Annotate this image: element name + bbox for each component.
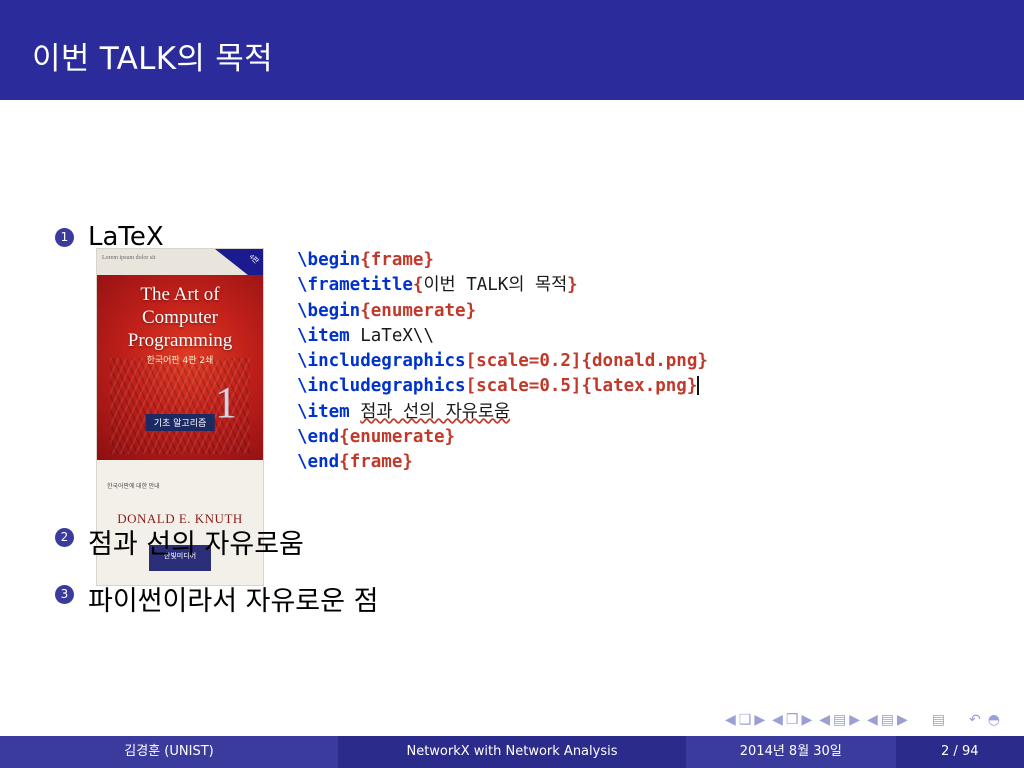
footer-date: 2014년 8월 30일 [686, 736, 896, 768]
code-token: \begin [297, 250, 360, 270]
footer-title: NetworkX with Network Analysis [338, 736, 686, 768]
text-cursor [697, 376, 699, 395]
nav-frame-next-icon[interactable]: ▶ [801, 712, 812, 728]
list-item: 3 파이썬이라서 자유로운 점 [55, 579, 378, 618]
code-token: [scale=0.2]{donald.png} [466, 351, 708, 371]
page-title: 이번 TALK의 목적 [32, 33, 273, 78]
code-token: { [413, 275, 424, 295]
book-badge: 기초 알고리즘 [146, 414, 215, 431]
code-token: 점과 선의 자유로움 [360, 402, 510, 422]
code-token: \frametitle [297, 275, 413, 295]
book-title-line3: Programming [97, 329, 263, 352]
footer-right-cell: 2014년 8월 30일 2 / 94 [686, 736, 1024, 768]
footer-date-cell: 2014년 8월 30일 [686, 736, 896, 768]
nav-subsection-icon[interactable]: ▤ [833, 712, 846, 728]
code-token: 이번 TALK의 목적 [423, 275, 567, 295]
code-token: LaTeX\\ [350, 326, 434, 346]
book-subtitle: 한국어판 4판 2쇄 [97, 353, 263, 366]
nav-group-slide[interactable]: ◀ ❑ ▶ [725, 712, 765, 728]
code-line: \item 점과 선의 자유로움 [297, 400, 708, 425]
code-token: \includegraphics [297, 376, 466, 396]
footer-page-number: 2 / 94 [896, 736, 1024, 768]
code-token: \begin [297, 301, 360, 321]
code-token: \item [297, 402, 350, 422]
nav-group-section[interactable]: ◀ ▤ ▶ [867, 712, 908, 728]
code-line: \includegraphics[scale=0.5]{latex.png} [297, 374, 708, 399]
code-token: \item [297, 326, 350, 346]
nav-section-next-icon[interactable]: ▶ [897, 712, 908, 728]
bullet-number: 1 [55, 228, 74, 247]
book-title-line1: The Art of [97, 283, 263, 306]
code-token: {enumerate} [339, 427, 455, 447]
nav-prev-icon[interactable]: ◀ [725, 712, 736, 728]
slide-body: 1 LaTeX Lorem ipsum dolor sit 4판 The Art… [0, 100, 1024, 730]
code-line: \begin{enumerate} [297, 299, 708, 324]
book-title-line2: Computer [97, 306, 263, 329]
code-token: \includegraphics [297, 351, 466, 371]
nav-section-prev-icon[interactable]: ◀ [867, 712, 878, 728]
code-line: \frametitle{이번 TALK의 목적} [297, 273, 708, 298]
slide-title-bar: 이번 TALK의 목적 [0, 0, 1024, 100]
code-token: [scale=0.5]{latex.png} [466, 376, 698, 396]
nav-next-icon[interactable]: ▶ [754, 712, 765, 728]
nav-subsection-prev-icon[interactable]: ◀ [819, 712, 830, 728]
nav-back-icon[interactable]: ↶ [969, 712, 981, 728]
footer-title-cell: NetworkX with Network Analysis [338, 736, 686, 768]
book-small-note: 한국어판에 대한 안내 [107, 481, 264, 490]
book-top-tiny-text: Lorem ipsum dolor sit [102, 255, 156, 261]
code-line: \end{frame} [297, 450, 708, 475]
code-token: } [567, 275, 578, 295]
latex-code-screenshot: \begin{frame}\frametitle{이번 TALK의 목적}\be… [297, 248, 708, 476]
footer-page-cell: 2 / 94 [896, 736, 1024, 768]
nav-frame-prev-icon[interactable]: ◀ [772, 712, 783, 728]
code-line: \begin{frame} [297, 248, 708, 273]
slide-footer: 김경훈 (UNIST) NetworkX with Network Analys… [0, 736, 1024, 768]
nav-subsection-next-icon[interactable]: ▶ [849, 712, 860, 728]
nav-group-frame[interactable]: ◀ ❒ ▶ [772, 712, 812, 728]
nav-slide-icon[interactable]: ❑ [739, 712, 752, 728]
nav-doc-icon[interactable]: ▤ [932, 712, 945, 728]
nav-section-icon[interactable]: ▤ [881, 712, 894, 728]
code-token: \end [297, 427, 339, 447]
slide: 이번 TALK의 목적 1 LaTeX Lorem ipsum dolor si… [0, 0, 1024, 768]
beamer-navigation-symbols[interactable]: ◀ ❑ ▶ ◀ ❒ ▶ ◀ ▤ ▶ ◀ ▤ ▶ ▤ ↶ ◓ [725, 712, 1000, 728]
nav-frame-icon[interactable]: ❒ [786, 712, 799, 728]
code-line: \includegraphics[scale=0.2]{donald.png} [297, 349, 708, 374]
book-title: The Art of Computer Programming [97, 283, 263, 352]
code-token: {frame} [360, 250, 434, 270]
bullet-number: 2 [55, 528, 74, 547]
code-token: {frame} [339, 452, 413, 472]
code-token: \end [297, 452, 339, 472]
footer-author-cell: 김경훈 (UNIST) [0, 736, 338, 768]
list-item: 2 점과 선의 자유로움 [55, 522, 304, 561]
nav-search-icon[interactable]: ◓ [988, 712, 1000, 728]
code-token: {enumerate} [360, 301, 476, 321]
nav-group-subsection[interactable]: ◀ ▤ ▶ [819, 712, 860, 728]
footer-author: 김경훈 (UNIST) [0, 736, 338, 768]
code-line: \item LaTeX\\ [297, 324, 708, 349]
book-volume-number: 1 [215, 377, 237, 428]
bullet-number: 3 [55, 585, 74, 604]
list-item-label: 파이썬이라서 자유로운 점 [88, 579, 378, 618]
code-token [350, 402, 361, 422]
code-line: \end{enumerate} [297, 425, 708, 450]
list-item-label: 점과 선의 자유로움 [88, 522, 304, 561]
